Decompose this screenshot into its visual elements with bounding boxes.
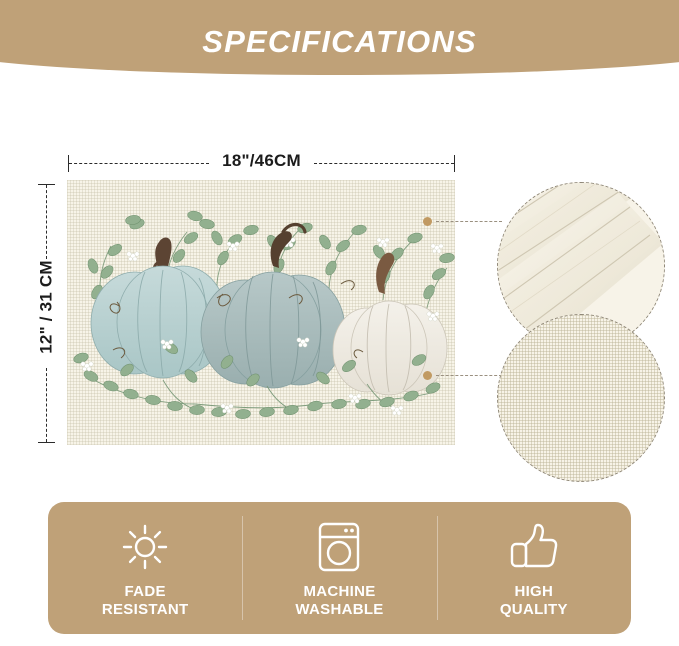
callout-dot-texture [423, 371, 432, 380]
product-image [67, 180, 455, 445]
feature-machine-washable: MACHINE WASHABLE [242, 502, 436, 634]
callout-dot-fold [423, 217, 432, 226]
feature-label-machine-washable: MACHINE WASHABLE [295, 583, 383, 620]
feature-label-line1: MACHINE [295, 583, 383, 601]
callout-line-fold [436, 221, 502, 222]
callout-line-texture [436, 375, 502, 376]
feature-label-line1: HIGH [500, 583, 568, 601]
height-tick-bottom [38, 442, 55, 443]
pumpkin-artwork [67, 180, 455, 445]
width-dimension-guide: 18"/46CM [68, 155, 455, 173]
washing-machine-icon [316, 521, 362, 573]
feature-bar: FADE RESISTANT MACHINE WASHABLE [48, 502, 631, 634]
feature-label-line2: QUALITY [500, 601, 568, 619]
height-dimension-guide: 12" / 31 CM [30, 182, 62, 445]
feature-fade-resistant: FADE RESISTANT [48, 502, 242, 634]
feature-label-line1: FADE [102, 583, 189, 601]
feature-label-fade-resistant: FADE RESISTANT [102, 583, 189, 620]
header-banner: SPECIFICATIONS [0, 0, 679, 80]
thumbs-up-icon [508, 521, 560, 573]
feature-label-line2: WASHABLE [295, 601, 383, 619]
width-dimension-label: 18"/46CM [68, 151, 455, 171]
linen-texture-detail [497, 314, 665, 482]
feature-label-high-quality: HIGH QUALITY [500, 583, 568, 620]
feature-high-quality: HIGH QUALITY [437, 502, 631, 634]
feature-label-line2: RESISTANT [102, 601, 189, 619]
linen-weave-pattern [498, 315, 664, 481]
sun-icon [120, 521, 170, 573]
height-dimension-label: 12" / 31 CM [37, 215, 57, 400]
page-title: SPECIFICATIONS [0, 26, 679, 57]
